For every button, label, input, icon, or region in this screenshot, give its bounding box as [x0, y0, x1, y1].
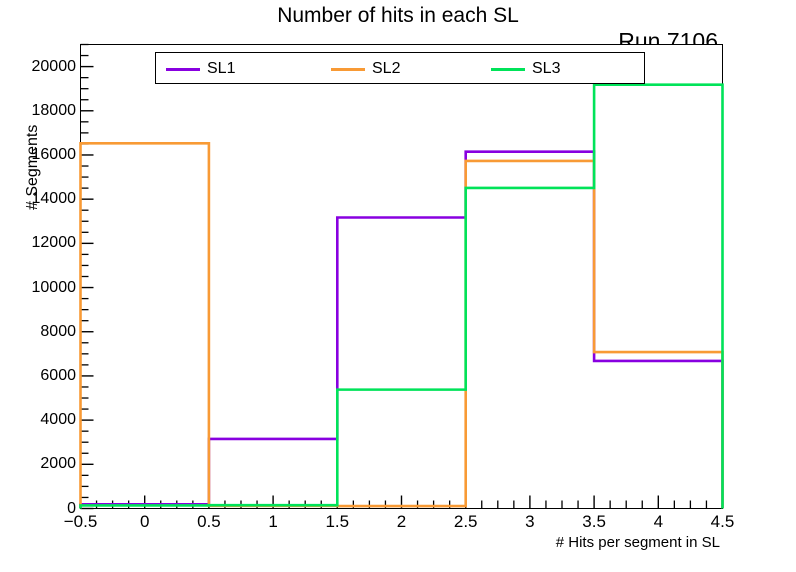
y-tick-label: 10000 — [32, 279, 77, 297]
x-tick-label: 4.5 — [711, 512, 735, 532]
y-tick-label: 20000 — [32, 58, 77, 76]
x-tick-label: 2 — [397, 512, 406, 532]
x-tick-label: 1.5 — [325, 512, 349, 532]
legend-entry-sl1[interactable]: SL1 — [166, 53, 235, 85]
legend-label-sl1: SL1 — [207, 61, 235, 77]
x-tick-label: 3 — [525, 512, 534, 532]
x-tick-label: 2.5 — [454, 512, 478, 532]
legend-swatch-sl1 — [166, 68, 200, 71]
y-tick-label: 6000 — [40, 367, 76, 385]
y-tick-label: 18000 — [32, 102, 77, 120]
x-tick-label: 3.5 — [582, 512, 606, 532]
plot-area — [0, 0, 796, 572]
histogram-sl2 — [81, 143, 723, 508]
y-axis-ticks — [81, 45, 94, 509]
x-tick-label: 1 — [268, 512, 277, 532]
y-tick-label: 14000 — [32, 190, 77, 208]
y-axis-tick-labels: 0200040006000800010000120001400016000180… — [0, 0, 76, 572]
y-tick-label: 8000 — [40, 323, 76, 341]
legend: SL1SL2SL3 — [155, 52, 645, 84]
legend-entry-sl2[interactable]: SL2 — [331, 53, 400, 85]
histogram-sl3 — [81, 85, 723, 509]
legend-label-sl2: SL2 — [372, 61, 400, 77]
x-tick-label: 4 — [654, 512, 663, 532]
legend-swatch-sl2 — [331, 68, 365, 71]
histogram-sl1 — [81, 152, 723, 509]
legend-swatch-sl3 — [491, 68, 525, 71]
histogram-series-layer — [81, 85, 723, 509]
x-tick-label: −0.5 — [64, 512, 98, 532]
y-tick-label: 4000 — [40, 411, 76, 429]
legend-entry-sl3[interactable]: SL3 — [491, 53, 560, 85]
legend-label-sl3: SL3 — [532, 61, 560, 77]
y-tick-label: 12000 — [32, 234, 77, 252]
x-tick-label: 0 — [140, 512, 149, 532]
y-tick-label: 2000 — [40, 455, 76, 473]
chart-canvas: Number of hits in each SL Run 7106 # Seg… — [0, 0, 796, 572]
y-tick-label: 16000 — [32, 146, 77, 164]
x-tick-label: 0.5 — [197, 512, 221, 532]
